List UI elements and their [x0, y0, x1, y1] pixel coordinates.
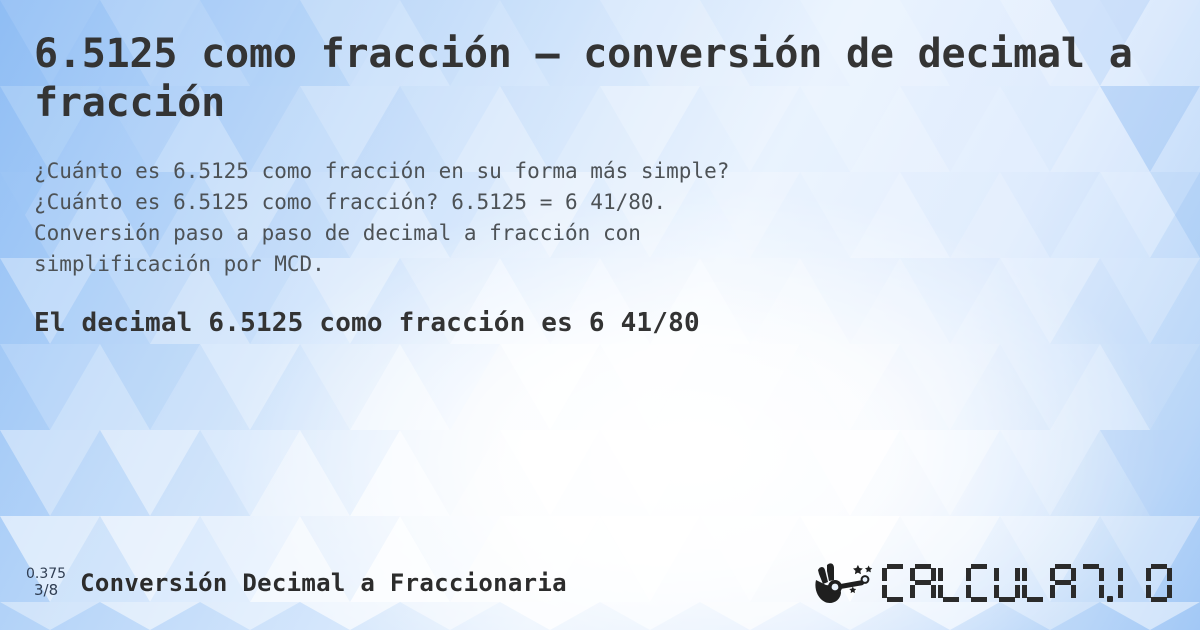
site-title: Conversión Decimal a Fraccionaria [80, 569, 567, 597]
card-content: 6.5125 como fracción – conversión de dec… [0, 0, 1200, 630]
lcd-char-A [910, 564, 936, 602]
page-title: 6.5125 como fracción – conversión de dec… [34, 30, 1139, 128]
description-line-2: ¿Cuánto es 6.5125 como fracción? 6.5125 … [34, 187, 1119, 218]
decimal-fraction-icon-fraction: 3/8 [34, 582, 58, 598]
page-description: ¿Cuánto es 6.5125 como fracción en su fo… [34, 156, 1119, 281]
lcd-char-U [994, 564, 1020, 602]
answer-statement: El decimal 6.5125 como fracción es 6 41/… [34, 307, 1166, 341]
og-card: 6.5125 como fracción – conversión de dec… [0, 0, 1200, 630]
brand-name [882, 564, 1174, 602]
description-line-3: Conversión paso a paso de decimal a frac… [34, 218, 1119, 249]
lcd-char-A2 [1050, 564, 1076, 602]
footer-branding-left: 0.375 3/8 Conversión Decimal a Fracciona… [26, 567, 567, 598]
lcd-char-dot [1106, 564, 1116, 602]
lcd-char-I [1118, 564, 1144, 602]
lcd-char-L [938, 564, 964, 602]
card-footer: 0.375 3/8 Conversión Decimal a Fracciona… [0, 542, 1200, 630]
hand-magic-wand-icon [814, 562, 876, 604]
lcd-char-L2 [1022, 564, 1048, 602]
brand-logo[interactable] [814, 562, 1184, 604]
lcd-char-C [882, 564, 908, 602]
lcd-char-C2 [966, 564, 992, 602]
lcd-char-T [1078, 564, 1104, 602]
decimal-fraction-icon-decimal: 0.375 [26, 567, 66, 582]
lcd-char-O [1146, 564, 1172, 602]
description-line-4: simplificación por MCD. [34, 249, 1119, 280]
description-line-1: ¿Cuánto es 6.5125 como fracción en su fo… [34, 156, 1119, 187]
decimal-fraction-icon: 0.375 3/8 [26, 567, 66, 598]
